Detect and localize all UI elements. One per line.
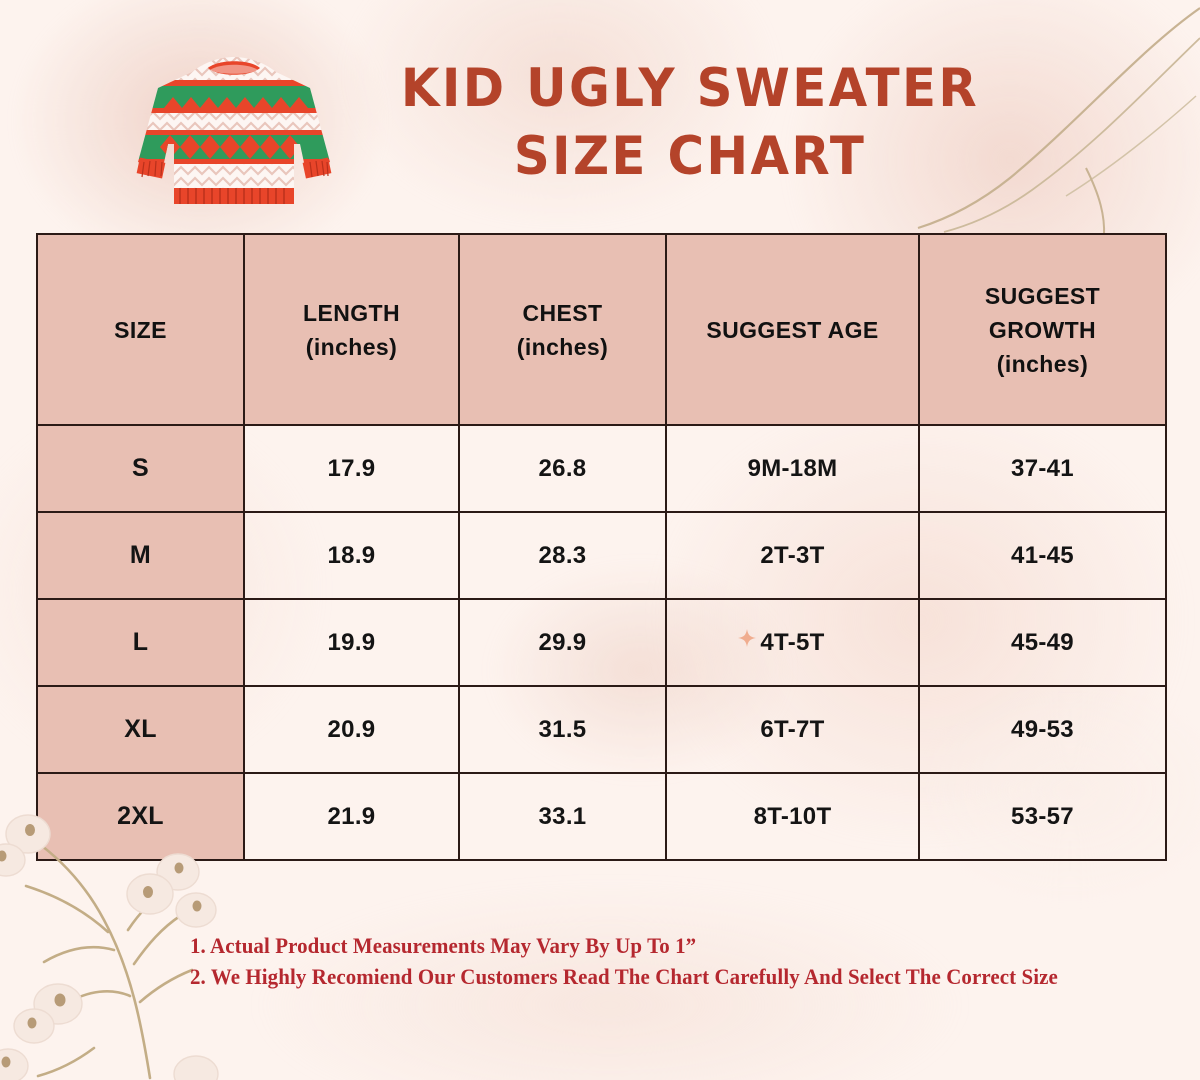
- page-title: KID UGLY SWEATER SIZE CHART: [360, 55, 1020, 191]
- title-line-2: SIZE CHART: [380, 123, 1000, 191]
- footnotes: 1. Actual Product Measurements May Vary …: [190, 930, 1190, 992]
- table-row: XL 20.9 31.5 6T-7T 49-53: [37, 686, 1166, 773]
- cell-length: 17.9: [244, 425, 459, 512]
- cell-chest: 28.3: [459, 512, 666, 599]
- cell-suggest-growth: 53-57: [919, 773, 1166, 860]
- cell-suggest-age-text: 8T-10T: [754, 803, 832, 831]
- sparkle-icon: [738, 629, 756, 647]
- footnote-2: 2. We Highly Recomiend Our Customers Rea…: [190, 961, 1120, 992]
- column-header-size: SIZE: [37, 234, 244, 425]
- cell-suggest-age: 4T-5T: [666, 599, 919, 686]
- table-row: L 19.9 29.9 4T-5T 45-49: [37, 599, 1166, 686]
- header-row: SIZE LENGTH (inches) CHEST (inches) SUGG…: [37, 234, 1166, 425]
- cell-chest: 26.8: [459, 425, 666, 512]
- cell-suggest-age-text: 9M-18M: [748, 455, 838, 483]
- cell-suggest-age-text: 4T-5T: [760, 629, 824, 656]
- size-chart-page: KID UGLY SWEATER SIZE CHART SIZE LENGTH …: [0, 0, 1200, 1080]
- column-header-length: LENGTH (inches): [244, 234, 459, 425]
- cell-chest: 33.1: [459, 773, 666, 860]
- cell-length: 19.9: [244, 599, 459, 686]
- sweater-illustration: [134, 44, 334, 216]
- table-header: SIZE LENGTH (inches) CHEST (inches) SUGG…: [37, 234, 1166, 425]
- cell-suggest-growth: 45-49: [919, 599, 1166, 686]
- table-row: M 18.9 28.3 2T-3T 41-45: [37, 512, 1166, 599]
- cell-length: 18.9: [244, 512, 459, 599]
- cell-size: XL: [37, 686, 244, 773]
- footnote-1: 1. Actual Product Measurements May Vary …: [190, 930, 1120, 961]
- cell-size: L: [37, 599, 244, 686]
- cell-length: 20.9: [244, 686, 459, 773]
- cell-suggest-age-text: 6T-7T: [760, 716, 824, 744]
- cell-chest: 31.5: [459, 686, 666, 773]
- cell-suggest-age: 8T-10T: [666, 773, 919, 860]
- column-header-suggest-age: SUGGEST AGE: [666, 234, 919, 425]
- cell-suggest-age: 6T-7T: [666, 686, 919, 773]
- column-header-chest: CHEST (inches): [459, 234, 666, 425]
- cell-size: S: [37, 425, 244, 512]
- cell-suggest-age: 2T-3T: [666, 512, 919, 599]
- cell-suggest-age-text: 2T-3T: [760, 542, 824, 570]
- table-body: S 17.9 26.8 9M-18M 37-41 M 18.9 28.3 2T-…: [37, 425, 1166, 860]
- cell-chest: 29.9: [459, 599, 666, 686]
- column-header-suggest-growth: SUGGEST GROWTH (inches): [919, 234, 1166, 425]
- table-row: S 17.9 26.8 9M-18M 37-41: [37, 425, 1166, 512]
- cell-suggest-growth: 41-45: [919, 512, 1166, 599]
- size-chart-table: SIZE LENGTH (inches) CHEST (inches) SUGG…: [36, 233, 1167, 861]
- title-line-1: KID UGLY SWEATER: [380, 55, 1000, 123]
- cell-size: M: [37, 512, 244, 599]
- cell-suggest-growth: 37-41: [919, 425, 1166, 512]
- cell-suggest-age: 9M-18M: [666, 425, 919, 512]
- cell-suggest-growth: 49-53: [919, 686, 1166, 773]
